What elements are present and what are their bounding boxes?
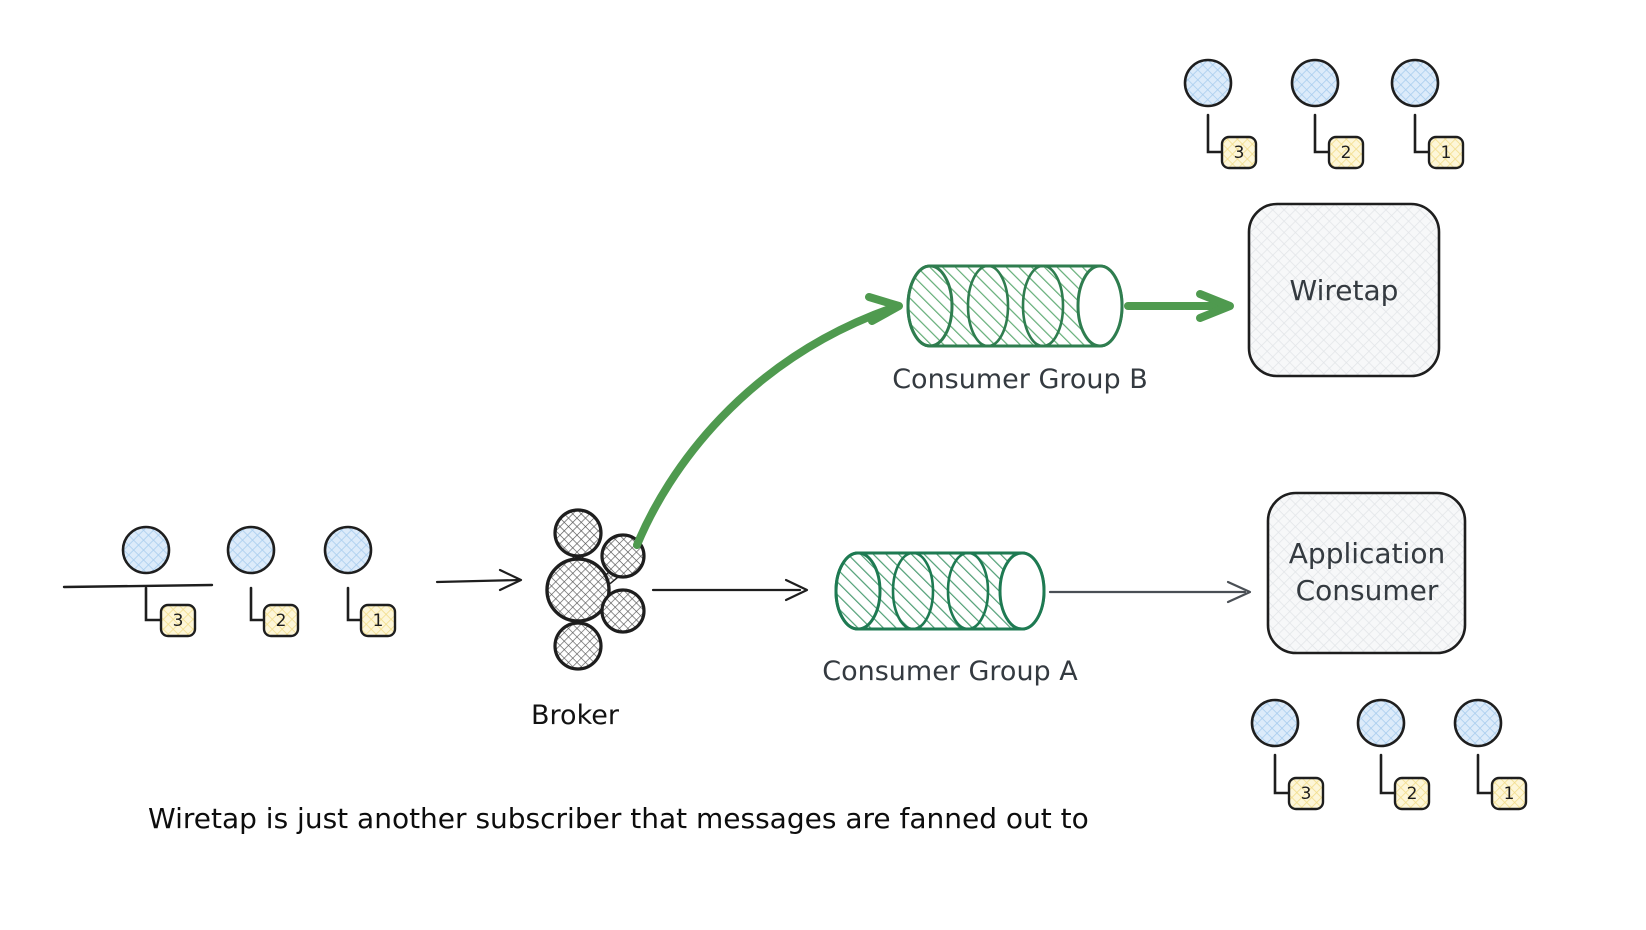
arrow-broker-to-group-a [653, 580, 807, 600]
message-circle-icon [325, 527, 371, 573]
queue-consumer-group-b[interactable]: Consumer Group B [892, 266, 1148, 395]
consumer-box-wiretap[interactable]: Wiretap [1249, 204, 1439, 376]
message-circle-icon [1252, 700, 1298, 746]
message-badge-label: 3 [1234, 143, 1245, 163]
arrow-messages-to-broker [437, 570, 521, 590]
broker-hub-icon [547, 510, 644, 669]
message-circle-icon [123, 527, 169, 573]
message-circle-icon [1455, 700, 1501, 746]
message-item: 1 [1455, 700, 1526, 809]
message-circle-icon [228, 527, 274, 573]
diagram-canvas: 3 2 1 Broker [0, 0, 1646, 930]
message-badge-label: 1 [1504, 784, 1515, 804]
message-circle-icon [1392, 60, 1438, 106]
consumer-box-label-line2: Consumer [1296, 574, 1439, 607]
arrow-group-a-to-consumer [1050, 582, 1250, 602]
message-item: 2 [1292, 60, 1363, 168]
message-badge-label: 1 [373, 611, 384, 631]
message-circle-icon [1292, 60, 1338, 106]
consumer-box-label: Wiretap [1290, 274, 1399, 307]
message-item: 1 [325, 527, 395, 636]
message-group-wiretap: 3 2 1 [1185, 60, 1463, 168]
message-item: 1 [1392, 60, 1463, 168]
queue-label: Consumer Group B [892, 364, 1148, 395]
message-item: 3 [1252, 700, 1323, 809]
message-item: 2 [1358, 700, 1429, 809]
inbound-tail-line [64, 585, 212, 587]
message-circle-icon [1185, 60, 1231, 106]
arrow-broker-to-group-b [637, 297, 899, 545]
queue-consumer-group-a[interactable]: Consumer Group A [822, 553, 1078, 687]
message-item: 3 [1185, 60, 1256, 168]
message-group-consumer: 3 2 1 [1252, 700, 1526, 809]
consumer-box-application-consumer[interactable]: Application Consumer [1268, 493, 1465, 653]
broker-label: Broker [531, 700, 620, 731]
message-badge-label: 3 [1301, 784, 1312, 804]
message-item: 3 [123, 527, 195, 636]
consumer-box-label-line1: Application [1289, 537, 1445, 570]
queue-label: Consumer Group A [822, 656, 1078, 687]
message-badge-label: 3 [173, 611, 184, 631]
broker-node[interactable]: Broker [531, 510, 644, 731]
diagram-svg: 3 2 1 Broker [0, 0, 1646, 930]
message-circle-icon [1358, 700, 1404, 746]
message-badge-label: 1 [1441, 143, 1452, 163]
diagram-caption: Wiretap is just another subscriber that … [148, 802, 1089, 835]
message-group-inbound: 3 2 1 [64, 527, 395, 636]
arrow-group-b-to-wiretap [1128, 294, 1230, 318]
message-item: 2 [228, 527, 298, 636]
message-badge-label: 2 [276, 611, 287, 631]
message-badge-label: 2 [1407, 784, 1418, 804]
message-badge-label: 2 [1341, 143, 1352, 163]
